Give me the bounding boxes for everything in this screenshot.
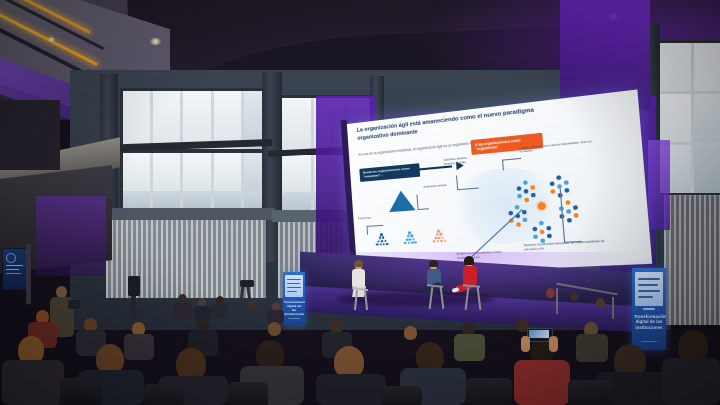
seat-5: [466, 378, 512, 405]
curtain-right: [664, 195, 720, 325]
banner-right-divider: [643, 308, 655, 310]
window-sill-left: [100, 208, 275, 220]
seat-1: [60, 378, 102, 405]
banner-left-heading: Transformación digital de las institucio…: [284, 301, 304, 316]
slide-label-from: Desde las organizaciones como "máquinas"…: [360, 163, 421, 182]
attendee-with-phone-body: [514, 360, 570, 405]
leader-cajas: [502, 158, 522, 171]
panelist-1-hair: [354, 260, 363, 267]
camera-operator-camera: [68, 300, 80, 309]
downlight-2: [150, 38, 161, 45]
banner-right: Transformación digital de las institucio…: [632, 268, 666, 350]
handrail-post-2: [612, 297, 614, 319]
camera-on-tripod: [240, 280, 254, 287]
leader-equipos: [560, 187, 582, 243]
phone-screen: [529, 330, 549, 338]
upper-left-dark: [0, 100, 60, 170]
leader-cambios: [456, 173, 479, 190]
pyramid-orange: [432, 229, 446, 243]
seat-4: [382, 386, 422, 405]
annotation-funciones: Funciones: [358, 216, 387, 222]
seat-6: [568, 380, 612, 405]
hierarchy-triangle-icon: [388, 190, 416, 213]
pa-speaker-box: [128, 276, 140, 296]
seat-2: [144, 384, 184, 405]
banner-left: Transformación digital de las institucio…: [283, 272, 305, 326]
panelist-2-hair: [429, 260, 438, 267]
conference-hall-photo: La organización ágil está amaneciendo co…: [0, 0, 720, 405]
side-display-screen: [2, 248, 28, 290]
seat-3: [228, 382, 268, 405]
purple-pillar-right: [648, 140, 670, 230]
banner-right-heading: Transformación digital de las institucio…: [634, 314, 664, 330]
handrail-post-1: [556, 288, 558, 314]
downlight-1: [48, 37, 55, 42]
side-display-post: [26, 244, 31, 304]
banner-right-top-panel: [635, 272, 663, 306]
banner-left-top-panel: [285, 275, 303, 297]
leader-jerarquia: [417, 194, 429, 210]
pyramid-deep-blue: [375, 233, 389, 246]
purple-wash-left: [36, 196, 106, 276]
annotation-cambios: Cambios rápidos, iteración flexible: [443, 156, 478, 168]
panelist-3-hair: [464, 256, 474, 265]
hand-right: [549, 336, 558, 352]
hand-left: [521, 336, 530, 352]
pyramid-light-blue: [403, 231, 417, 245]
pa-speaker-stand: [131, 296, 136, 318]
center-node: [537, 202, 545, 210]
